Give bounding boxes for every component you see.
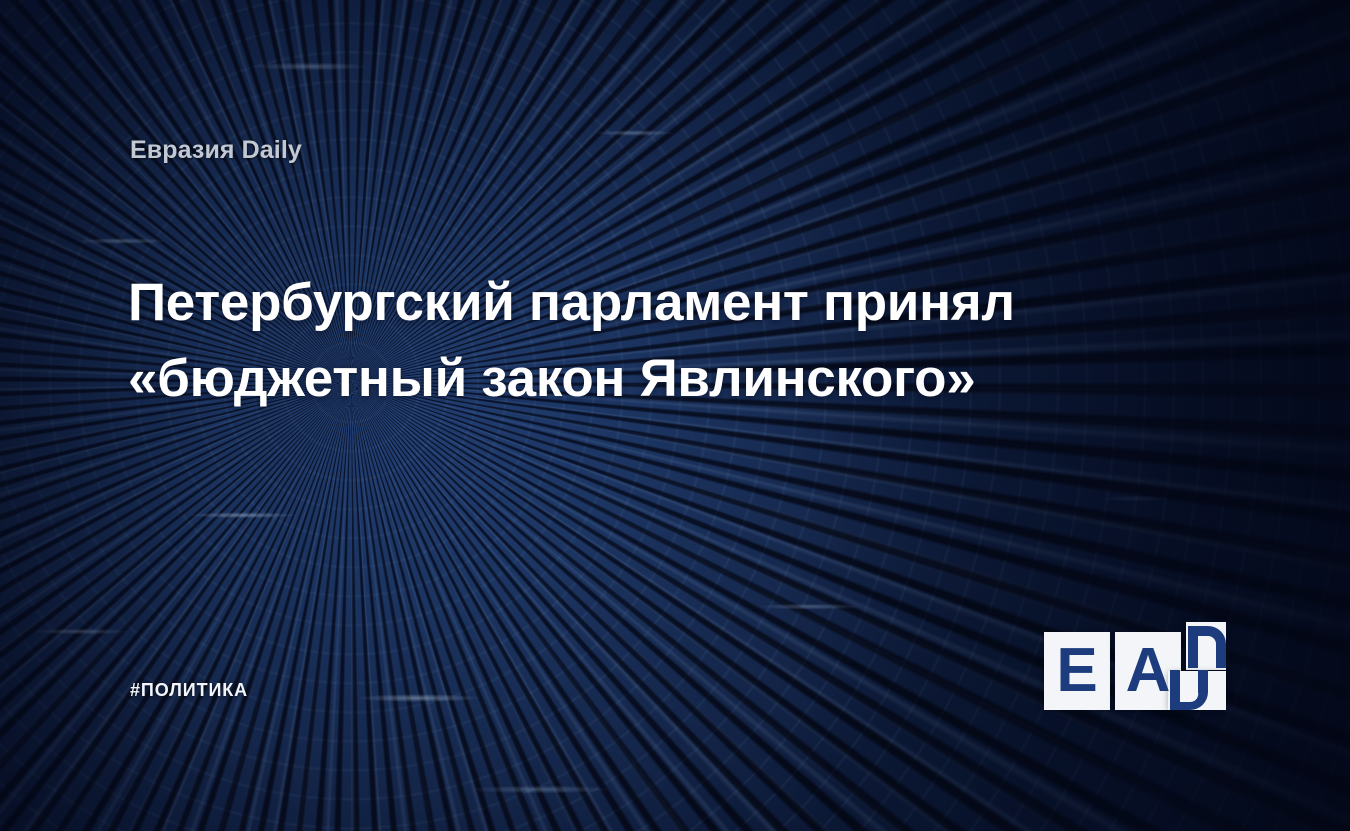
publication-masthead: Евразия Daily	[130, 136, 302, 165]
share-card: Евразия Daily Петербургский парламент пр…	[0, 0, 1350, 831]
logo-letter-d	[1164, 620, 1230, 714]
article-headline: Петербургский парламент принял «бюджетны…	[128, 265, 1088, 417]
category-hashtag: #ПОЛИТИКА	[130, 680, 248, 701]
ead-logo: E A	[1044, 622, 1226, 710]
logo-letter-e: E	[1044, 632, 1110, 710]
